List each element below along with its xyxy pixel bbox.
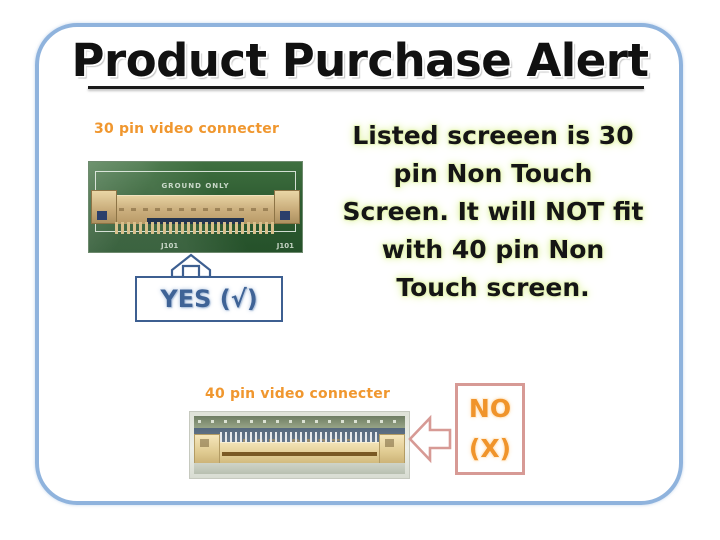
board-ref-left: J101 [161, 242, 178, 250]
alert-message-text: Listed screeen is 30 pin Non Touch Scree… [338, 117, 648, 307]
product-purchase-alert-card: Product Purchase Alert 30 pin video conn… [0, 0, 720, 540]
panel-bottom-strip [194, 463, 405, 474]
silkscreen-ground-only-label: GROUND ONLY [89, 182, 302, 190]
yes-verdict-label: YES (√) [137, 285, 281, 313]
connector-body-40 [218, 442, 381, 463]
no-verdict-box: NO (X) [455, 383, 525, 475]
connector-latch-right [274, 190, 300, 224]
page-title: Product Purchase Alert [72, 34, 649, 87]
caption-30-pin-connector: 30 pin video connecter [94, 121, 279, 137]
yes-verdict-box: YES (√) [135, 276, 283, 322]
no-verdict-label-top: NO [458, 394, 522, 423]
connector-end-right-40 [379, 434, 405, 464]
connector-pin-row [115, 222, 276, 234]
page-title-underline [88, 86, 644, 89]
panel-top-strip [194, 416, 405, 428]
left-arrow-icon [408, 412, 452, 466]
board-ref-right: J101 [277, 242, 294, 250]
connector-end-left-40 [194, 434, 220, 464]
caption-40-pin-connector: 40 pin video connecter [205, 386, 390, 402]
photo-40-pin-connector: LCD PARTS [189, 411, 410, 479]
connector-pin-row-40 [220, 432, 379, 442]
page-title-wrapper: Product Purchase Alert [60, 36, 660, 86]
photo-30-pin-connector: GROUND ONLY J101 J101 [88, 161, 303, 253]
no-verdict-label-bottom: (X) [458, 434, 522, 463]
connector-latch-left [91, 190, 117, 224]
